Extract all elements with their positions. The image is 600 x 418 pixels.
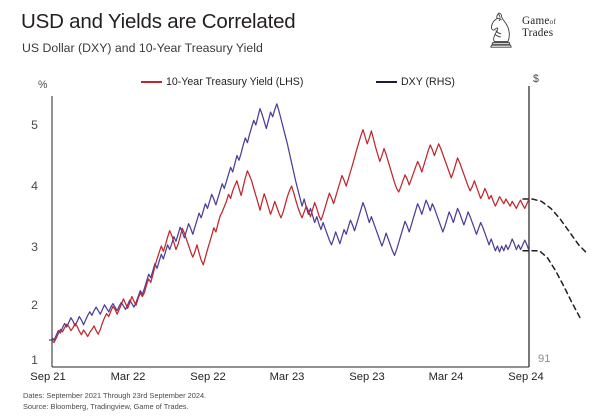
x-tick-mar-24: Mar 24: [411, 371, 481, 383]
chart-svg: [0, 0, 600, 418]
footer-dates: Dates: September 2021 Through 23rd Septe…: [23, 390, 206, 401]
series-line-dxy: [52, 104, 529, 340]
chart-page: USD and Yields are Correlated US Dollar …: [0, 0, 600, 418]
x-tick-sep-23: Sep 23: [332, 371, 402, 383]
x-tick-sep-22: Sep 22: [173, 371, 243, 383]
x-tick-mar-22: Mar 22: [93, 371, 163, 383]
series-layer: [52, 104, 588, 343]
projection-line-dxy: [523, 251, 580, 318]
footer-source: Source: Bloomberg, Tradingview, Game of …: [23, 401, 206, 412]
projection-line-yield: [523, 199, 588, 254]
x-tick-sep-21: Sep 21: [13, 371, 83, 383]
series-line-yield: [52, 130, 529, 343]
x-tick-mar-23: Mar 23: [252, 371, 322, 383]
footer-notes: Dates: September 2021 Through 23rd Septe…: [23, 390, 206, 413]
chart-plot-area: [0, 0, 600, 418]
x-tick-sep-24: Sep 24: [491, 371, 561, 383]
